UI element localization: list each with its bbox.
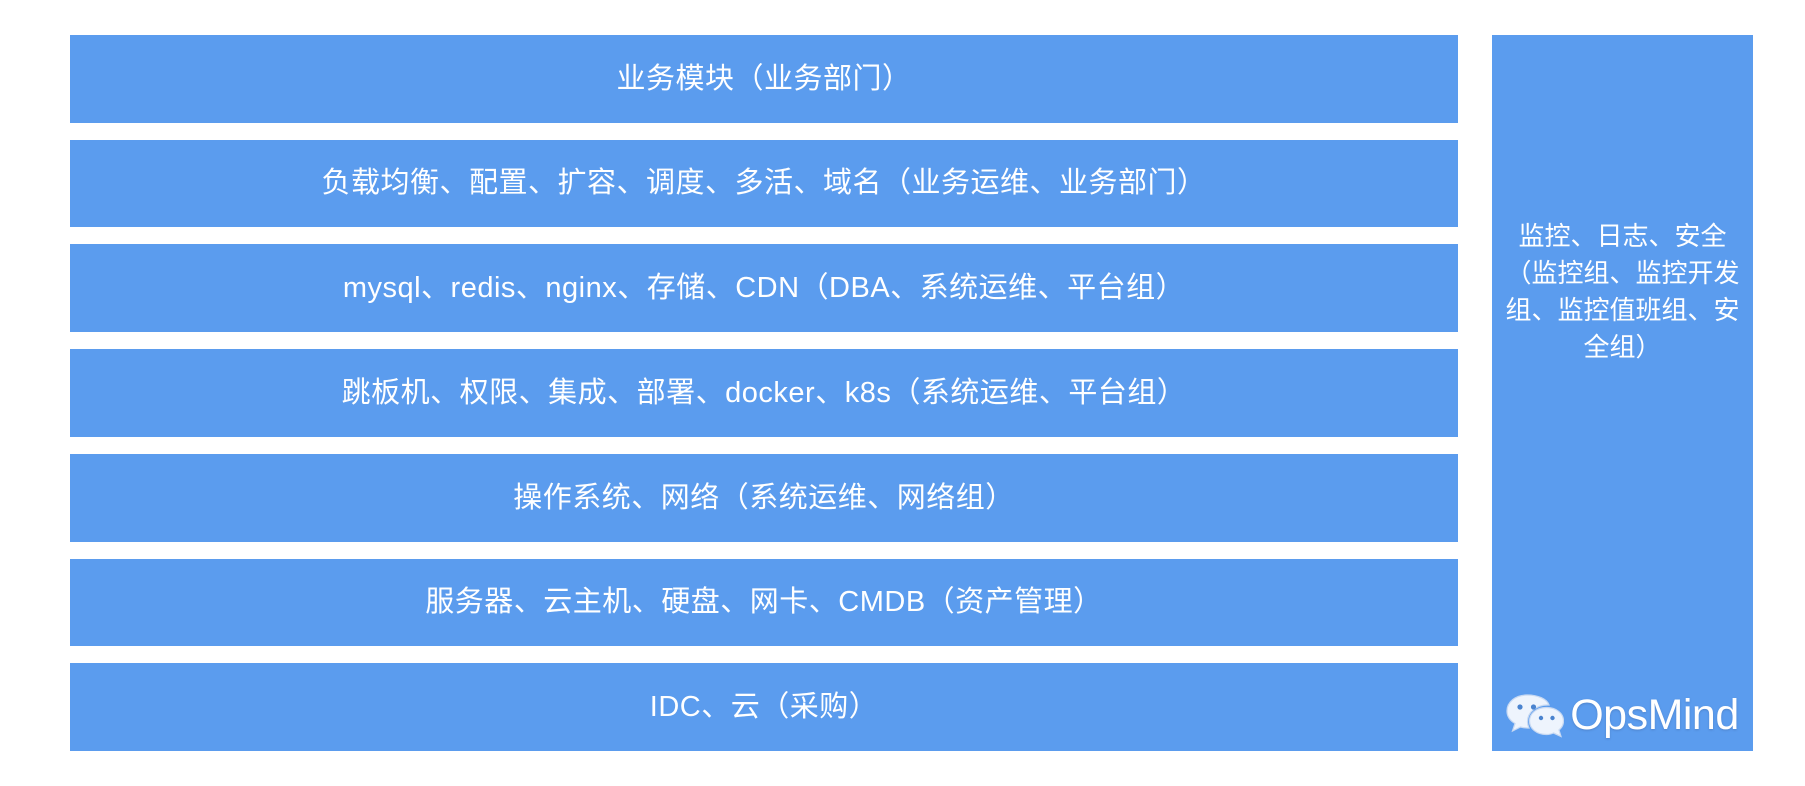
layer-bar-middleware[interactable]: mysql、redis、nginx、存储、CDN（DBA、系统运维、平台组） [70,244,1458,332]
layer-stack: 业务模块（业务部门） 负载均衡、配置、扩容、调度、多活、域名（业务运维、业务部门… [70,35,1458,751]
layer-label: 服务器、云主机、硬盘、网卡、CMDB（资产管理） [425,584,1102,620]
wechat-icon [1506,692,1564,738]
layer-label: 操作系统、网络（系统运维、网络组） [513,480,1015,516]
sidebar-panel-monitoring[interactable]: 监控、日志、安全 （监控组、监控开发组、监控值班组、安全组） OpsMind [1492,35,1753,751]
diagram-canvas: 业务模块（业务部门） 负载均衡、配置、扩容、调度、多活、域名（业务运维、业务部门… [0,0,1805,786]
brand-watermark: OpsMind [1492,692,1753,738]
brand-name: OpsMind [1570,694,1739,737]
layer-label: mysql、redis、nginx、存储、CDN（DBA、系统运维、平台组） [343,270,1185,306]
layer-label: 负载均衡、配置、扩容、调度、多活、域名（业务运维、业务部门） [321,165,1206,201]
layer-bar-business-module[interactable]: 业务模块（业务部门） [70,35,1458,123]
layer-bar-platform-tools[interactable]: 跳板机、权限、集成、部署、docker、k8s（系统运维、平台组） [70,349,1458,437]
layer-label: 跳板机、权限、集成、部署、docker、k8s（系统运维、平台组） [342,375,1187,411]
layer-bar-os-network[interactable]: 操作系统、网络（系统运维、网络组） [70,454,1458,542]
layer-bar-load-balancing[interactable]: 负载均衡、配置、扩容、调度、多活、域名（业务运维、业务部门） [70,140,1458,228]
layer-bar-idc-cloud[interactable]: IDC、云（采购） [70,663,1458,751]
layer-bar-hardware-assets[interactable]: 服务器、云主机、硬盘、网卡、CMDB（资产管理） [70,559,1458,647]
layer-label: 业务模块（业务部门） [616,61,911,97]
layer-label: IDC、云（采购） [650,689,878,725]
sidebar-panel-label: 监控、日志、安全 （监控组、监控开发组、监控值班组、安全组） [1492,218,1753,366]
